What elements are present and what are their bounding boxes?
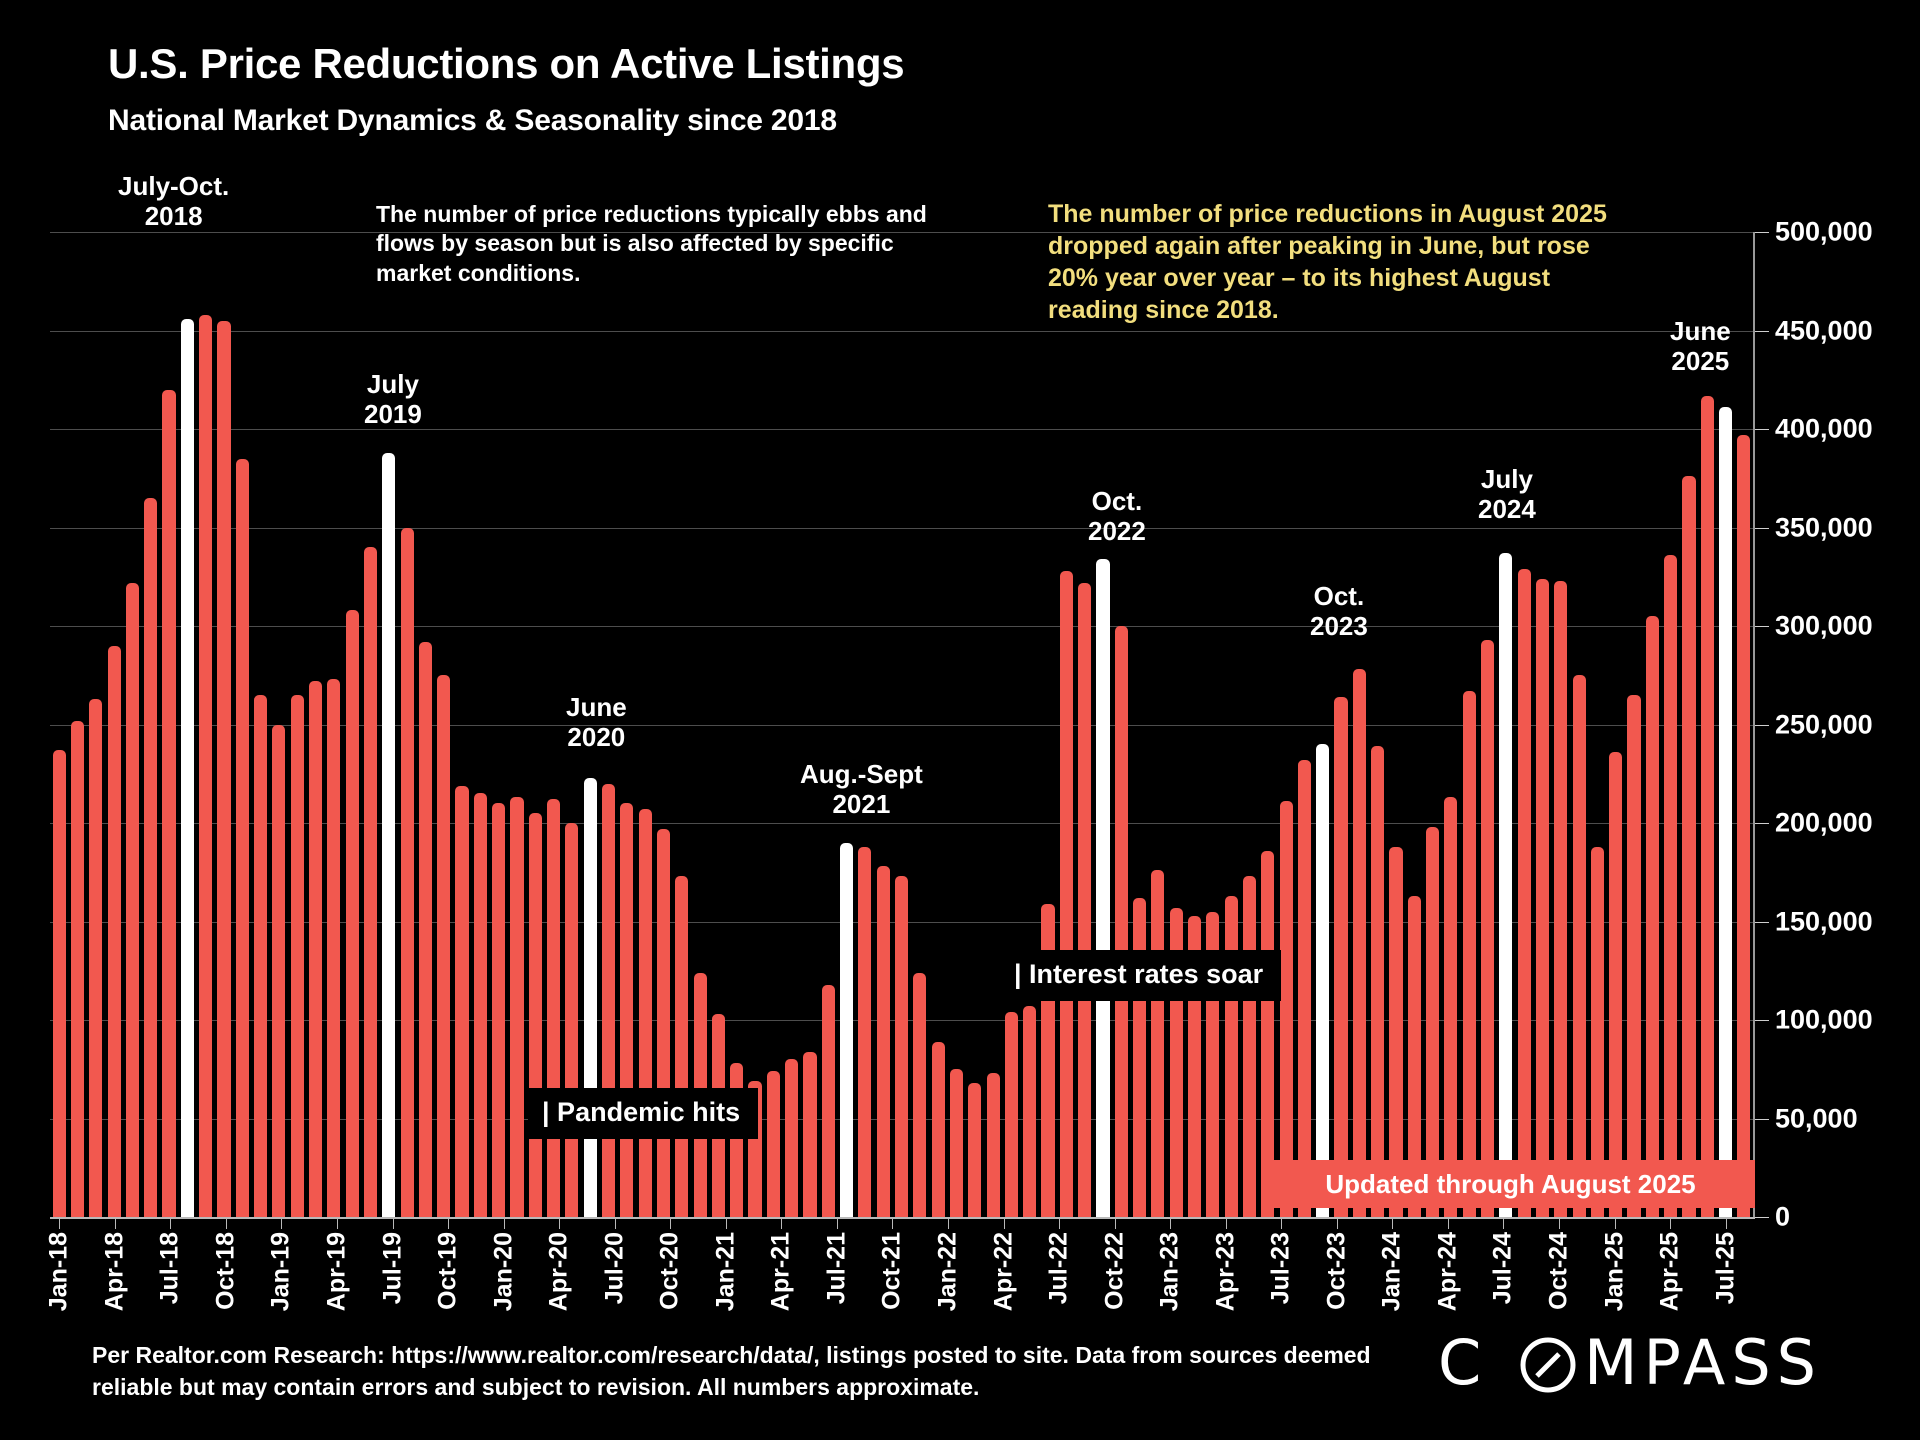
bar[interactable] bbox=[1536, 579, 1549, 1217]
bar[interactable] bbox=[547, 799, 560, 1217]
bar-cell[interactable] bbox=[636, 232, 654, 1217]
bar[interactable] bbox=[767, 1071, 780, 1217]
x-axis-label-cell bbox=[735, 1232, 754, 1352]
x-axis-tick bbox=[124, 1217, 143, 1229]
bar[interactable] bbox=[1682, 476, 1695, 1217]
bar-cell[interactable] bbox=[801, 232, 819, 1217]
x-axis-tick bbox=[180, 1217, 199, 1229]
x-axis-tick bbox=[1494, 1217, 1513, 1229]
bar-cell[interactable] bbox=[1259, 232, 1277, 1217]
x-axis-tick bbox=[198, 1217, 217, 1229]
bar[interactable] bbox=[1444, 797, 1457, 1217]
x-axis-label-cell: Jan-21 bbox=[717, 1232, 736, 1352]
bar-cell[interactable] bbox=[343, 232, 361, 1217]
bar[interactable] bbox=[620, 803, 633, 1217]
bar[interactable] bbox=[217, 321, 230, 1217]
bar-cell[interactable] bbox=[471, 232, 489, 1217]
x-axis-tick bbox=[1087, 1217, 1106, 1229]
bar-cell[interactable] bbox=[160, 232, 178, 1217]
bar[interactable] bbox=[1646, 616, 1659, 1217]
x-axis-tick bbox=[1198, 1217, 1217, 1229]
bar[interactable] bbox=[309, 681, 322, 1217]
y-axis-label: 350,000 bbox=[1775, 512, 1873, 543]
bar-cell[interactable] bbox=[746, 232, 764, 1217]
bar-cell[interactable] bbox=[1369, 232, 1387, 1217]
x-axis-tick bbox=[680, 1217, 699, 1229]
bar-cell[interactable] bbox=[1405, 232, 1423, 1217]
bar[interactable] bbox=[71, 721, 84, 1217]
x-axis-tick bbox=[754, 1217, 773, 1229]
bar[interactable] bbox=[858, 847, 871, 1217]
x-axis-label-cell: Apr-20 bbox=[550, 1232, 569, 1352]
y-axis-tick bbox=[1755, 1119, 1769, 1120]
bar[interactable] bbox=[108, 646, 121, 1217]
bar[interactable] bbox=[1225, 896, 1238, 1217]
y-axis-label: 500,000 bbox=[1775, 217, 1873, 248]
x-axis-tick bbox=[828, 1217, 847, 1229]
bar-cell[interactable] bbox=[819, 232, 837, 1217]
x-axis-tick bbox=[1013, 1217, 1032, 1229]
x-axis-tick bbox=[420, 1217, 439, 1229]
bar-cell[interactable] bbox=[984, 232, 1002, 1217]
bar-cell[interactable] bbox=[1002, 232, 1020, 1217]
y-axis-tick bbox=[1755, 528, 1769, 529]
x-axis-tick bbox=[1142, 1217, 1161, 1229]
x-axis-tick bbox=[1050, 1217, 1069, 1229]
x-axis-label-cell: Jan-18 bbox=[50, 1232, 69, 1352]
x-axis-tick bbox=[1346, 1217, 1365, 1229]
bar-cell[interactable] bbox=[1039, 232, 1057, 1217]
bar[interactable] bbox=[1371, 746, 1384, 1217]
bar-highlight[interactable] bbox=[1719, 407, 1732, 1217]
x-axis-tick bbox=[1531, 1217, 1550, 1229]
bar[interactable] bbox=[254, 695, 267, 1217]
bar[interactable] bbox=[1554, 581, 1567, 1217]
bar-cell[interactable] bbox=[1662, 232, 1680, 1217]
bar-cell[interactable] bbox=[68, 232, 86, 1217]
x-axis-tick bbox=[1309, 1217, 1328, 1229]
bar-cell[interactable] bbox=[1552, 232, 1570, 1217]
x-axis-tick bbox=[1420, 1217, 1439, 1229]
bar-cell[interactable] bbox=[1021, 232, 1039, 1217]
x-axis-tick bbox=[1105, 1217, 1124, 1229]
callout-line1: July-Oct. bbox=[118, 172, 229, 202]
x-axis-tick bbox=[383, 1217, 402, 1229]
compass-logo-icon: C MPASS bbox=[1438, 1330, 1858, 1402]
bar[interactable] bbox=[364, 547, 377, 1217]
bar-cell[interactable] bbox=[1112, 232, 1130, 1217]
x-axis-label-cell bbox=[680, 1232, 699, 1352]
callout-line1: Aug.-Sept bbox=[800, 760, 923, 790]
x-axis-label-cell bbox=[1013, 1232, 1032, 1352]
x-axis-tick bbox=[865, 1217, 884, 1229]
bar-cell[interactable] bbox=[1295, 232, 1313, 1217]
x-axis-label-cell: Apr-23 bbox=[1216, 1232, 1235, 1352]
bar-highlight[interactable] bbox=[382, 453, 395, 1217]
x-axis-label-cell: Jul-21 bbox=[828, 1232, 847, 1352]
bar[interactable] bbox=[895, 876, 908, 1217]
bar-cell[interactable] bbox=[947, 232, 965, 1217]
bar-cell[interactable] bbox=[123, 232, 141, 1217]
callout-line2: 2021 bbox=[800, 790, 923, 820]
bar-cell[interactable] bbox=[728, 232, 746, 1217]
bar-cell[interactable] bbox=[453, 232, 471, 1217]
bar[interactable] bbox=[639, 809, 652, 1217]
bar[interactable] bbox=[437, 675, 450, 1217]
bar[interactable] bbox=[803, 1052, 816, 1217]
y-axis-tick bbox=[1755, 823, 1769, 824]
bar-cell[interactable] bbox=[1607, 232, 1625, 1217]
bar[interactable] bbox=[987, 1073, 1000, 1217]
x-axis-tick bbox=[309, 1217, 328, 1229]
x-axis-tick bbox=[1476, 1217, 1495, 1229]
x-axis-label-cell: Oct-22 bbox=[1105, 1232, 1124, 1352]
bar-cell[interactable] bbox=[306, 232, 324, 1217]
bar-cell[interactable] bbox=[490, 232, 508, 1217]
bar[interactable] bbox=[1481, 640, 1494, 1217]
x-axis-tick bbox=[50, 1217, 69, 1229]
bar[interactable] bbox=[1737, 435, 1750, 1217]
bar-cell[interactable] bbox=[508, 232, 526, 1217]
bar[interactable] bbox=[1151, 870, 1164, 1217]
callout-line1: June bbox=[566, 693, 627, 723]
bar-cell[interactable] bbox=[1478, 232, 1496, 1217]
x-axis-label-cell: Apr-19 bbox=[328, 1232, 347, 1352]
bar-cell[interactable] bbox=[1057, 232, 1075, 1217]
bar[interactable] bbox=[126, 583, 139, 1217]
x-axis-tick bbox=[291, 1217, 310, 1229]
bar-highlight[interactable] bbox=[840, 843, 853, 1217]
bar[interactable] bbox=[327, 679, 340, 1217]
bar-cell[interactable] bbox=[673, 232, 691, 1217]
bar-cell[interactable] bbox=[783, 232, 801, 1217]
bar[interactable] bbox=[1243, 876, 1256, 1217]
bar-cell[interactable] bbox=[105, 232, 123, 1217]
compass-logo: C MPASS bbox=[1438, 1330, 1858, 1402]
x-axis-tick bbox=[235, 1217, 254, 1229]
x-axis-tick bbox=[1235, 1217, 1254, 1229]
bar-cell[interactable] bbox=[709, 232, 727, 1217]
x-axis-tick bbox=[254, 1217, 273, 1229]
bar[interactable] bbox=[401, 528, 414, 1218]
bar-cell[interactable] bbox=[856, 232, 874, 1217]
bar-highlight[interactable] bbox=[1096, 559, 1109, 1217]
bar[interactable] bbox=[529, 813, 542, 1217]
x-axis-tick bbox=[87, 1217, 106, 1229]
bar-cell[interactable] bbox=[1222, 232, 1240, 1217]
y-axis-tick bbox=[1755, 1020, 1769, 1021]
bar-cell[interactable] bbox=[911, 232, 929, 1217]
page-subtitle: National Market Dynamics & Seasonality s… bbox=[108, 104, 837, 138]
x-axis-tick bbox=[1272, 1217, 1291, 1229]
updated-banner: Updated through August 2025 bbox=[1266, 1160, 1755, 1208]
x-axis-tick bbox=[1642, 1217, 1661, 1229]
bar[interactable] bbox=[1115, 626, 1128, 1217]
bar[interactable] bbox=[1023, 1006, 1036, 1217]
bar[interactable] bbox=[510, 797, 523, 1217]
x-axis-tick bbox=[1031, 1217, 1050, 1229]
bar-cell[interactable] bbox=[1204, 232, 1222, 1217]
bar[interactable] bbox=[1005, 1012, 1018, 1217]
x-axis-label-cell bbox=[1068, 1232, 1087, 1352]
bar[interactable] bbox=[419, 642, 432, 1217]
y-axis-label: 100,000 bbox=[1775, 1005, 1873, 1036]
x-axis-tick bbox=[550, 1217, 569, 1229]
bar[interactable] bbox=[1280, 801, 1293, 1217]
bar[interactable] bbox=[1518, 569, 1531, 1217]
callout-line1: Oct. bbox=[1310, 582, 1368, 612]
bar-cell[interactable] bbox=[233, 232, 251, 1217]
y-axis-tick bbox=[1755, 1217, 1769, 1218]
x-axis-label-cell bbox=[69, 1232, 88, 1352]
bar-cell[interactable] bbox=[50, 232, 68, 1217]
x-axis-label-cell bbox=[1235, 1232, 1254, 1352]
x-axis-label-cell bbox=[346, 1232, 365, 1352]
bar[interactable] bbox=[1573, 675, 1586, 1217]
svg-text:MPASS: MPASS bbox=[1584, 1330, 1822, 1399]
bar[interactable] bbox=[1426, 827, 1439, 1217]
bar-cell[interactable] bbox=[142, 232, 160, 1217]
x-axis-tick bbox=[69, 1217, 88, 1229]
x-axis-tick bbox=[717, 1217, 736, 1229]
bar[interactable] bbox=[1078, 583, 1091, 1217]
bar[interactable] bbox=[162, 390, 175, 1217]
bar-cell[interactable] bbox=[1588, 232, 1606, 1217]
bar[interactable] bbox=[1334, 697, 1347, 1217]
page-title: U.S. Price Reductions on Active Listings bbox=[108, 40, 904, 88]
callout-line1: Oct. bbox=[1088, 487, 1146, 517]
bar-cell[interactable] bbox=[1442, 232, 1460, 1217]
x-axis-label-cell: Jan-23 bbox=[1161, 1232, 1180, 1352]
bar[interactable] bbox=[565, 823, 578, 1217]
x-axis-tick bbox=[1587, 1217, 1606, 1229]
callout-oct-2023: Oct. 2023 bbox=[1310, 582, 1368, 641]
bar-highlight[interactable] bbox=[584, 778, 597, 1217]
y-axis-label: 400,000 bbox=[1775, 414, 1873, 445]
bar[interactable] bbox=[455, 786, 468, 1217]
bar-cell[interactable] bbox=[197, 232, 215, 1217]
bar-cell[interactable] bbox=[874, 232, 892, 1217]
x-axis-tick bbox=[439, 1217, 458, 1229]
bar[interactable] bbox=[199, 315, 212, 1217]
bar-cell[interactable] bbox=[1314, 232, 1332, 1217]
bar[interactable] bbox=[291, 695, 304, 1217]
x-axis-tick bbox=[1179, 1217, 1198, 1229]
x-axis-label-cell: Oct-20 bbox=[661, 1232, 680, 1352]
callout-july-oct-2018: July-Oct. 2018 bbox=[118, 172, 229, 231]
x-axis-label-cell: Apr-22 bbox=[994, 1232, 1013, 1352]
x-axis-tick bbox=[1068, 1217, 1087, 1229]
bar-cell[interactable] bbox=[1698, 232, 1716, 1217]
bar[interactable] bbox=[968, 1083, 981, 1217]
bar[interactable] bbox=[1463, 691, 1476, 1217]
bar[interactable] bbox=[877, 866, 890, 1217]
callout-june-2025: June 2025 bbox=[1670, 317, 1731, 376]
callout-line2: 2018 bbox=[118, 202, 229, 232]
bar-cell[interactable] bbox=[270, 232, 288, 1217]
bar-cell[interactable] bbox=[87, 232, 105, 1217]
y-axis-label: 200,000 bbox=[1775, 808, 1873, 839]
bar-cell[interactable] bbox=[526, 232, 544, 1217]
bar-cell[interactable] bbox=[892, 232, 910, 1217]
x-axis-tick bbox=[1568, 1217, 1587, 1229]
bar-cell[interactable] bbox=[1094, 232, 1112, 1217]
x-axis-tick bbox=[624, 1217, 643, 1229]
bar[interactable] bbox=[1060, 571, 1073, 1217]
x-axis-tick bbox=[1624, 1217, 1643, 1229]
bar-cell[interactable] bbox=[1735, 232, 1753, 1217]
y-axis-tick bbox=[1755, 725, 1769, 726]
bar[interactable] bbox=[1609, 752, 1622, 1217]
bar[interactable] bbox=[602, 784, 615, 1217]
bar-cell[interactable] bbox=[1167, 232, 1185, 1217]
x-axis-label-cell: Jul-18 bbox=[161, 1232, 180, 1352]
x-axis-label-cell: Jul-20 bbox=[605, 1232, 624, 1352]
bar-cell[interactable] bbox=[288, 232, 306, 1217]
x-axis-tick bbox=[920, 1217, 939, 1229]
callout-line2: 2025 bbox=[1670, 347, 1731, 377]
bar[interactable] bbox=[932, 1042, 945, 1217]
x-axis-tick bbox=[1698, 1217, 1717, 1229]
bar-cell[interactable] bbox=[764, 232, 782, 1217]
x-axis-tick bbox=[568, 1217, 587, 1229]
x-axis-tick bbox=[272, 1217, 291, 1229]
bar[interactable] bbox=[1298, 760, 1311, 1217]
bar[interactable] bbox=[730, 1063, 743, 1217]
bar-cell[interactable] bbox=[1515, 232, 1533, 1217]
x-axis-tick bbox=[772, 1217, 791, 1229]
x-axis-label-cell bbox=[1291, 1232, 1310, 1352]
x-axis-tick bbox=[1254, 1217, 1273, 1229]
bar-cell[interactable] bbox=[1643, 232, 1661, 1217]
x-axis-label-cell bbox=[624, 1232, 643, 1352]
bar[interactable] bbox=[89, 699, 102, 1217]
bar[interactable] bbox=[346, 610, 359, 1217]
bar[interactable] bbox=[474, 793, 487, 1217]
x-axis-tick bbox=[1216, 1217, 1235, 1229]
x-axis-label-cell bbox=[180, 1232, 199, 1352]
bar-cell[interactable] bbox=[1185, 232, 1203, 1217]
bar-cell[interactable] bbox=[1149, 232, 1167, 1217]
callout-line2: 2023 bbox=[1310, 612, 1368, 642]
bar-cell[interactable] bbox=[1680, 232, 1698, 1217]
x-axis-label-cell bbox=[846, 1232, 865, 1352]
callout-line2: 2019 bbox=[364, 400, 422, 430]
x-axis-tick bbox=[346, 1217, 365, 1229]
bar-highlight[interactable] bbox=[181, 319, 194, 1217]
x-axis-tick bbox=[809, 1217, 828, 1229]
bar[interactable] bbox=[236, 459, 249, 1217]
bar[interactable] bbox=[492, 803, 505, 1217]
bar-cell[interactable] bbox=[1076, 232, 1094, 1217]
bar[interactable] bbox=[1353, 669, 1366, 1217]
x-axis-tick bbox=[1365, 1217, 1384, 1229]
bar[interactable] bbox=[822, 985, 835, 1217]
x-axis-tick bbox=[365, 1217, 384, 1229]
x-axis-tick bbox=[1457, 1217, 1476, 1229]
x-axis-tick bbox=[902, 1217, 921, 1229]
x-axis-tick bbox=[643, 1217, 662, 1229]
x-axis-label-cell bbox=[402, 1232, 421, 1352]
bar-cell[interactable] bbox=[1460, 232, 1478, 1217]
x-axis-tick bbox=[143, 1217, 162, 1229]
x-axis-tick bbox=[1161, 1217, 1180, 1229]
x-axis-label-cell bbox=[902, 1232, 921, 1352]
callout-july-2019: July 2019 bbox=[364, 370, 422, 429]
bar-cell[interactable] bbox=[1277, 232, 1295, 1217]
bar-cell[interactable] bbox=[325, 232, 343, 1217]
bar-cell[interactable] bbox=[1240, 232, 1258, 1217]
x-axis-tick bbox=[1513, 1217, 1532, 1229]
x-axis-label-cell bbox=[235, 1232, 254, 1352]
x-axis-tick bbox=[531, 1217, 550, 1229]
x-axis-label-cell: Jan-19 bbox=[272, 1232, 291, 1352]
bar-cell[interactable] bbox=[251, 232, 269, 1217]
bar-cell[interactable] bbox=[1350, 232, 1368, 1217]
bar-cell[interactable] bbox=[1533, 232, 1551, 1217]
bar[interactable] bbox=[53, 750, 66, 1217]
x-axis-label-cell bbox=[291, 1232, 310, 1352]
x-axis-tick bbox=[976, 1217, 995, 1229]
bar-cell[interactable] bbox=[1716, 232, 1734, 1217]
bar[interactable] bbox=[144, 498, 157, 1217]
bar-cell[interactable] bbox=[837, 232, 855, 1217]
x-axis-tick bbox=[1550, 1217, 1569, 1229]
bar[interactable] bbox=[913, 973, 926, 1217]
callout-oct-2022: Oct. 2022 bbox=[1088, 487, 1146, 546]
bar-cell[interactable] bbox=[929, 232, 947, 1217]
bar[interactable] bbox=[785, 1059, 798, 1217]
bar-cell[interactable] bbox=[691, 232, 709, 1217]
bar-cell[interactable] bbox=[1497, 232, 1515, 1217]
bar-cell[interactable] bbox=[1423, 232, 1441, 1217]
bar[interactable] bbox=[272, 725, 285, 1218]
event-pandemic-hits: | Pandemic hits bbox=[528, 1088, 758, 1139]
bar-cell[interactable] bbox=[544, 232, 562, 1217]
footer-note: Per Realtor.com Research: https://www.re… bbox=[92, 1340, 1402, 1403]
bar-cell[interactable] bbox=[1625, 232, 1643, 1217]
bar[interactable] bbox=[675, 876, 688, 1217]
bar-highlight[interactable] bbox=[1499, 553, 1512, 1217]
bar-cell[interactable] bbox=[435, 232, 453, 1217]
bar-highlight[interactable] bbox=[1316, 744, 1329, 1217]
x-axis-tick bbox=[587, 1217, 606, 1229]
bar[interactable] bbox=[1664, 555, 1677, 1217]
chart-canvas: U.S. Price Reductions on Active Listings… bbox=[0, 0, 1920, 1440]
bar-cell[interactable] bbox=[178, 232, 196, 1217]
x-axis-tick bbox=[106, 1217, 125, 1229]
x-axis-label-cell: Apr-18 bbox=[106, 1232, 125, 1352]
x-axis-label-cell: Jul-23 bbox=[1272, 1232, 1291, 1352]
bar-cell[interactable] bbox=[654, 232, 672, 1217]
bar-cell[interactable] bbox=[1570, 232, 1588, 1217]
bar[interactable] bbox=[657, 829, 670, 1217]
x-axis-tick bbox=[1439, 1217, 1458, 1229]
bar[interactable] bbox=[1133, 898, 1146, 1217]
x-axis-label-cell bbox=[1402, 1232, 1421, 1352]
bar-cell[interactable] bbox=[966, 232, 984, 1217]
bar[interactable] bbox=[950, 1069, 963, 1217]
bar[interactable] bbox=[1701, 396, 1714, 1217]
y-axis-label: 0 bbox=[1775, 1202, 1790, 1233]
bar-cell[interactable] bbox=[215, 232, 233, 1217]
bar-cell[interactable] bbox=[1332, 232, 1350, 1217]
bar[interactable] bbox=[1627, 695, 1640, 1217]
x-axis-tick bbox=[1402, 1217, 1421, 1229]
x-axis-label-cell: Oct-19 bbox=[439, 1232, 458, 1352]
bar-cell[interactable] bbox=[1387, 232, 1405, 1217]
bar-cell[interactable] bbox=[1130, 232, 1148, 1217]
